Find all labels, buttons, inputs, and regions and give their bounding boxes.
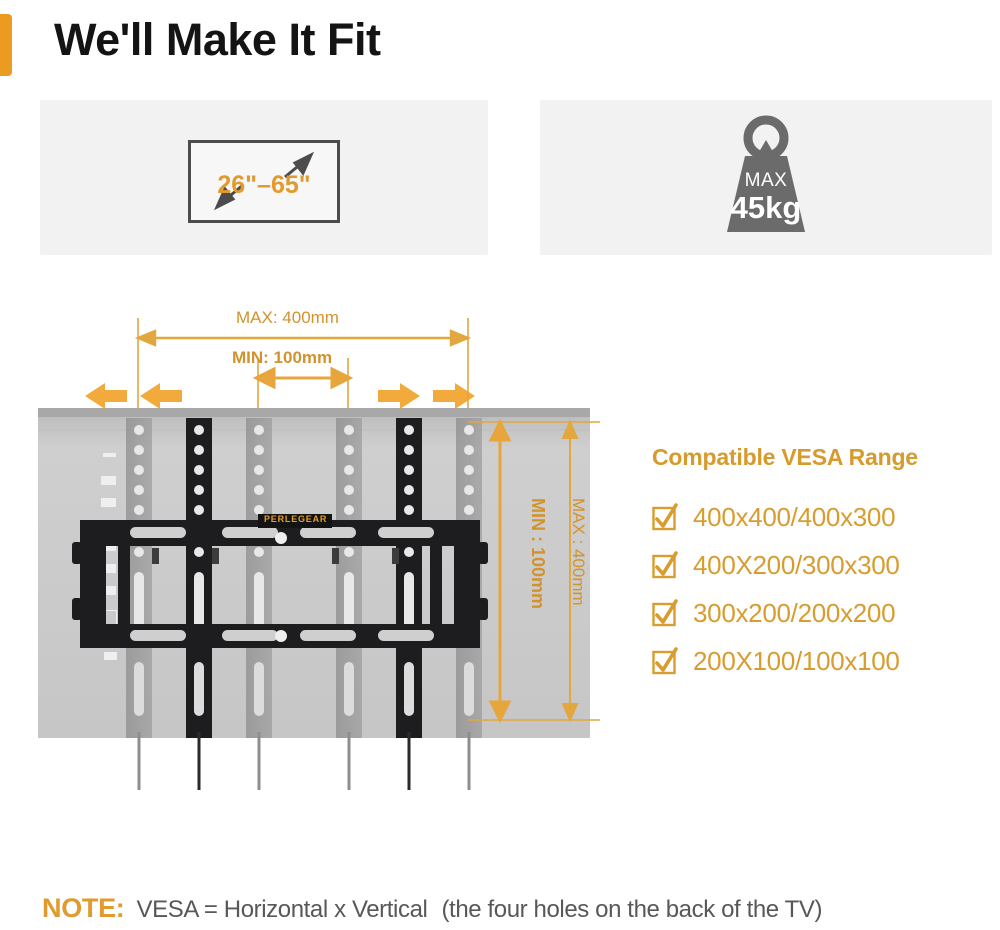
max-weight-panel: MAX 45kg	[540, 100, 992, 255]
weight-max-label: MAX	[701, 170, 831, 192]
vesa-title: Compatible VESA Range	[652, 444, 992, 471]
vesa-item-label: 400X200/300x300	[693, 550, 900, 581]
vertical-max-label: MAX : 400mm	[568, 498, 588, 606]
mount-diagram: MAX: 400mm MIN: 100mm MAX : 400mm MIN : …	[0, 280, 640, 800]
weight-value-label: 45kg	[701, 190, 831, 226]
vesa-item-label: 200X100/100x100	[693, 646, 900, 677]
vesa-row: 400x400/400x300	[652, 493, 992, 541]
accent-bar	[0, 14, 12, 76]
vesa-row: 200X100/100x100	[652, 637, 992, 685]
checkbox-checked-icon	[652, 648, 679, 675]
vesa-item-label: 400x400/400x300	[693, 502, 895, 533]
weight-icon: MAX 45kg	[701, 114, 831, 244]
vesa-row: 300x200/200x200	[652, 589, 992, 637]
page-title: We'll Make It Fit	[54, 14, 380, 66]
vesa-row: 400X200/300x300	[652, 541, 992, 589]
checkbox-checked-icon	[652, 504, 679, 531]
vertical-min-label: MIN : 100mm	[527, 498, 548, 609]
vesa-item-label: 300x200/200x200	[693, 598, 895, 629]
horizontal-max-label: MAX: 400mm	[236, 308, 339, 328]
brand-label: PERLEGEAR	[264, 514, 327, 524]
note-parenthetical: (the four holes on the back of the TV)	[441, 896, 822, 924]
note: NOTE: VESA = Horizontal x Vertical (the …	[42, 893, 822, 924]
screen-size-label: 26"–65"	[191, 171, 337, 200]
note-keyword: NOTE:	[42, 893, 125, 924]
checkbox-checked-icon	[652, 600, 679, 627]
vesa-range-section: Compatible VESA Range 400x400/400x300 40…	[652, 444, 992, 685]
tv-outline-icon: 26"–65"	[188, 140, 340, 223]
horizontal-min-label: MIN: 100mm	[232, 348, 332, 368]
infographic-page: We'll Make It Fit 26"–65" MAX 45k	[0, 0, 1000, 930]
note-definition: VESA = Horizontal x Vertical	[137, 896, 428, 924]
checkbox-checked-icon	[652, 552, 679, 579]
screen-size-panel: 26"–65"	[40, 100, 488, 255]
